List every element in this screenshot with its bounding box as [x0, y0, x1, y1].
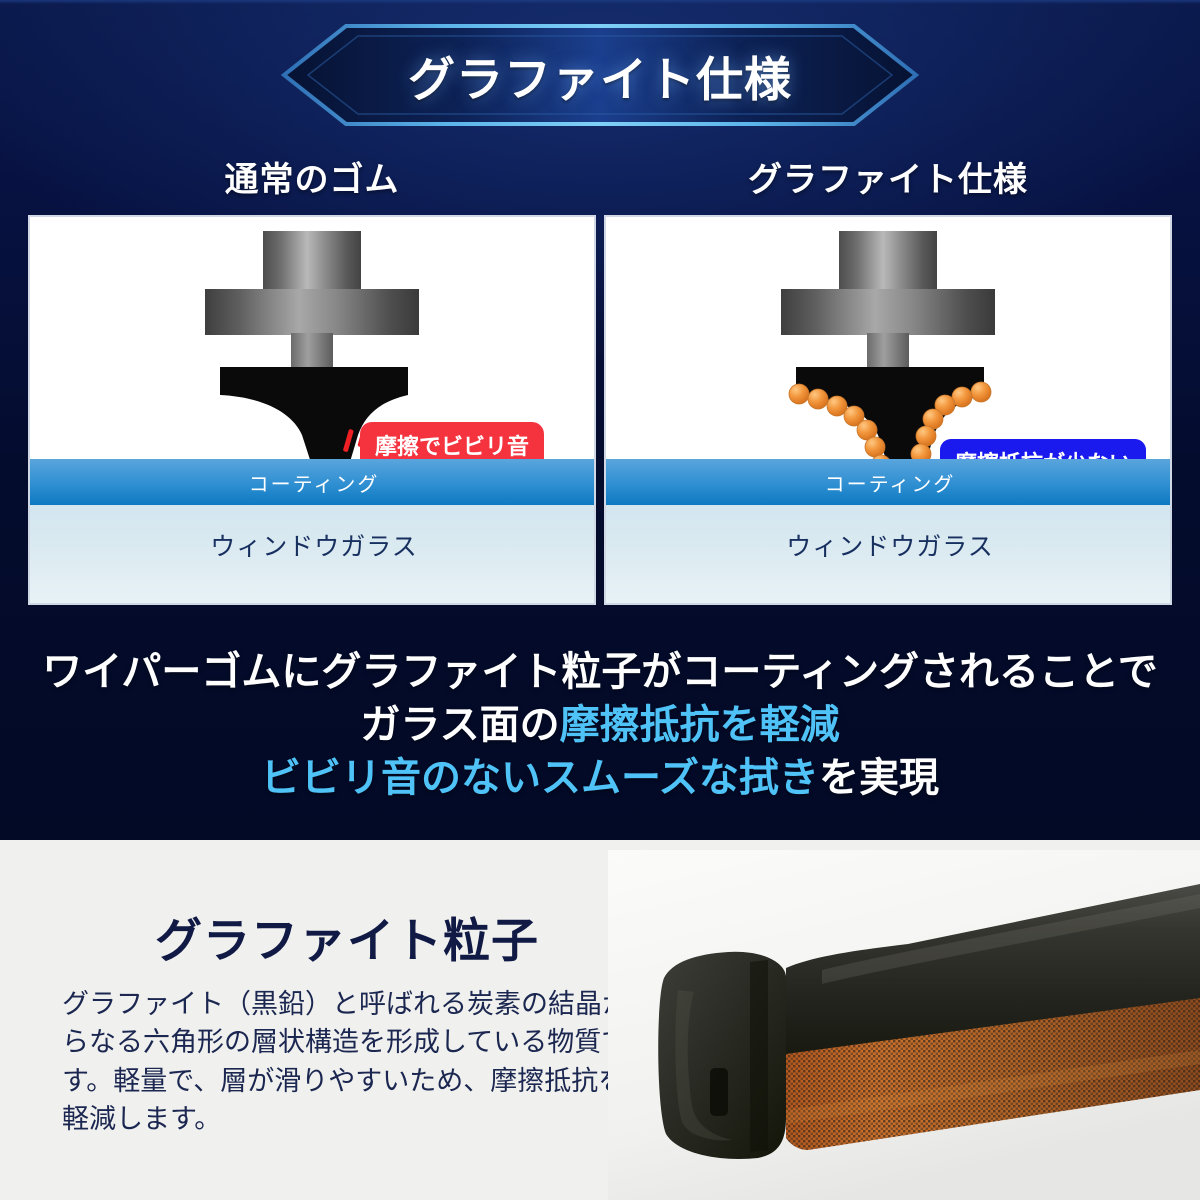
summary-text-block: ワイパーゴムにグラファイト粒子がコーティングされることで ガラス面の摩擦抵抗を軽…	[0, 646, 1200, 806]
summary-line3-white: を実現	[819, 756, 939, 800]
panel-heading-graphite: グラファイト仕様	[604, 152, 1172, 201]
graphite-description-block: グラファイト粒子 グラファイト（黒鉛）と呼ばれる炭素の結晶からなる六角形の層状構…	[62, 902, 632, 1138]
coating-layer-left: コーティング	[30, 459, 596, 505]
glass-layer-right: ウィンドウガラス	[606, 505, 1172, 603]
top-dark-section: グラファイト仕様 通常のゴム	[0, 0, 1200, 840]
bottom-section-title: グラファイト粒子	[62, 902, 632, 971]
diagram-normal-rubber: 摩擦でビビリ音 摩擦抵抗が大きい コーティング ウィンドウガラス	[28, 215, 596, 605]
summary-line1-text: ワイパーゴムにグラファイト粒子がコーティングされることで	[42, 650, 1158, 694]
summary-line2-white: ガラス面の	[360, 703, 559, 747]
wiper-blade-photo-illustration	[608, 850, 1200, 1200]
bottom-section-body: グラファイト（黒鉛）と呼ばれる炭素の結晶からなる六角形の層状構造を形成している物…	[62, 985, 632, 1138]
summary-line2-cyan: 摩擦抵抗を軽減	[560, 703, 840, 747]
header-banner: グラファイト仕様	[280, 22, 920, 128]
summary-line-1: ワイパーゴムにグラファイト粒子がコーティングされることで	[0, 646, 1200, 699]
glass-layer-left: ウィンドウガラス	[30, 505, 596, 603]
summary-line3-cyan: ビビリ音のないスムーズな拭き	[261, 756, 819, 800]
product-photo-wiper-blade	[608, 850, 1200, 1200]
panel-graphite: グラファイト仕様	[604, 152, 1172, 605]
diagram-graphite: 摩擦抵抗が少ない スムーズな動き グラファイト粒子 コーティング ウィンドウガラ…	[604, 215, 1172, 605]
bottom-light-section: グラファイト粒子 グラファイト（黒鉛）と呼ばれる炭素の結晶からなる六角形の層状構…	[0, 840, 1200, 1200]
summary-line-3: ビビリ音のないスムーズな拭きを実現	[0, 752, 1200, 805]
banner-title: グラファイト仕様	[280, 22, 920, 128]
panel-heading-normal: 通常のゴム	[28, 152, 596, 201]
coating-layer-right: コーティング	[606, 459, 1172, 505]
panel-normal-rubber: 通常のゴム	[28, 152, 596, 605]
summary-line-2: ガラス面の摩擦抵抗を軽減	[0, 699, 1200, 752]
infographic-page: グラファイト仕様 通常のゴム	[0, 0, 1200, 1200]
